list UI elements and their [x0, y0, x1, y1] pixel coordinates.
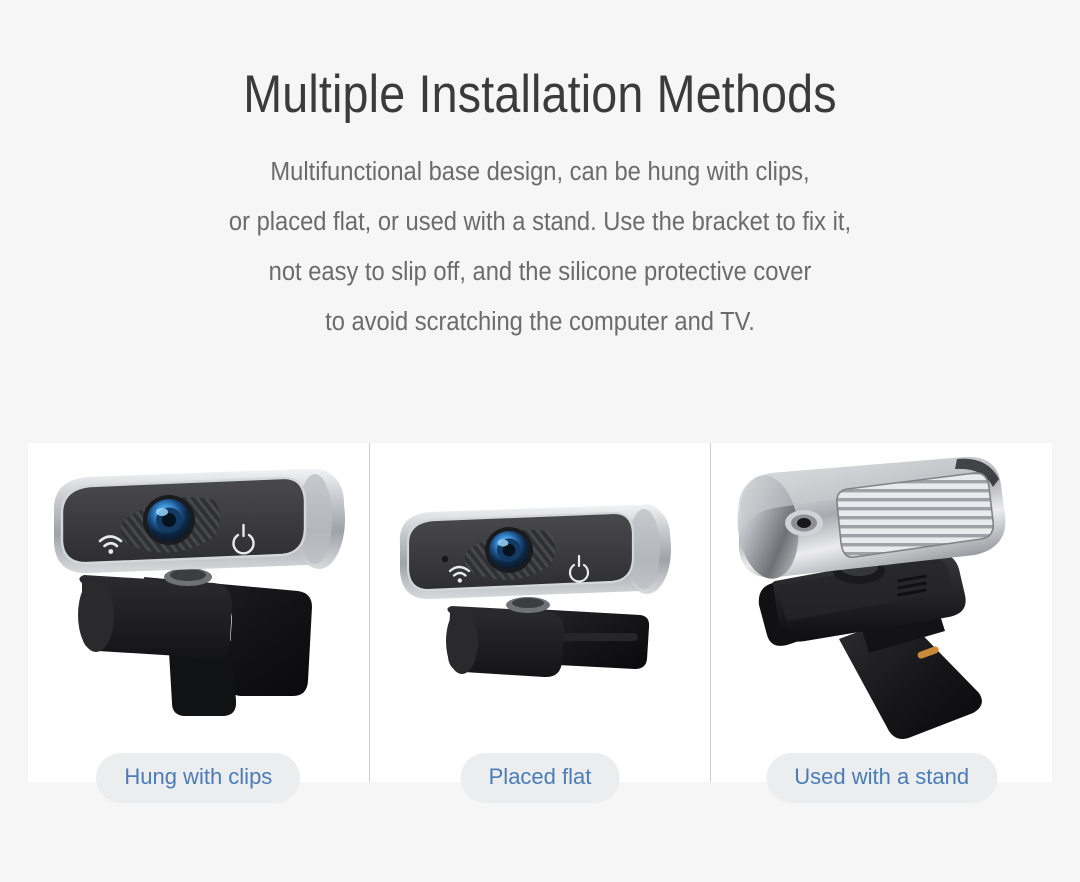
caption-pill-hung-with-clips[interactable]: Hung with clips [96, 753, 300, 803]
wifi-icon-dot [108, 549, 113, 554]
webcam-illustration-clip [36, 465, 356, 730]
subtitle-line-3: not easy to slip off, and the silicone p… [38, 247, 1042, 297]
hinge-pin [170, 569, 206, 581]
method-card-used-with-a-stand[interactable]: Used with a stand [711, 443, 1052, 782]
base-pad-edge [446, 608, 478, 674]
microphone-pinhole [441, 556, 447, 562]
webcam-illustration-flat [388, 501, 688, 691]
header: Multiple Installation Methods Multifunct… [0, 0, 1080, 347]
installation-methods-panel: Hung with clips [28, 443, 1052, 782]
subtitle-line-1: Multifunctional base design, can be hung… [38, 147, 1042, 197]
hinge-pin [512, 598, 544, 608]
clip-pad-edge [78, 578, 114, 652]
caption-pill-placed-flat[interactable]: Placed flat [461, 753, 620, 803]
product-feature-page: Multiple Installation Methods Multifunct… [0, 0, 1080, 882]
lens-highlight [156, 508, 168, 516]
socket-hole [797, 518, 811, 528]
product-image-hung-with-clips [28, 443, 369, 743]
page-subtitle: Multifunctional base design, can be hung… [38, 147, 1042, 347]
product-image-placed-flat [370, 443, 711, 743]
base-groove [556, 633, 638, 641]
page-title: Multiple Installation Methods [65, 68, 1015, 121]
caption-pill-used-with-a-stand[interactable]: Used with a stand [766, 753, 997, 803]
method-card-hung-with-clips[interactable]: Hung with clips [28, 443, 369, 782]
lens-highlight [497, 539, 508, 546]
subtitle-line-2: or placed flat, or used with a stand. Us… [38, 197, 1042, 247]
wifi-icon-dot [457, 578, 461, 582]
subtitle-line-4: to avoid scratching the computer and TV. [38, 297, 1042, 347]
product-image-used-with-a-stand [711, 443, 1052, 743]
webcam-illustration-stand [721, 453, 1031, 733]
method-card-placed-flat[interactable]: Placed flat [370, 443, 711, 782]
